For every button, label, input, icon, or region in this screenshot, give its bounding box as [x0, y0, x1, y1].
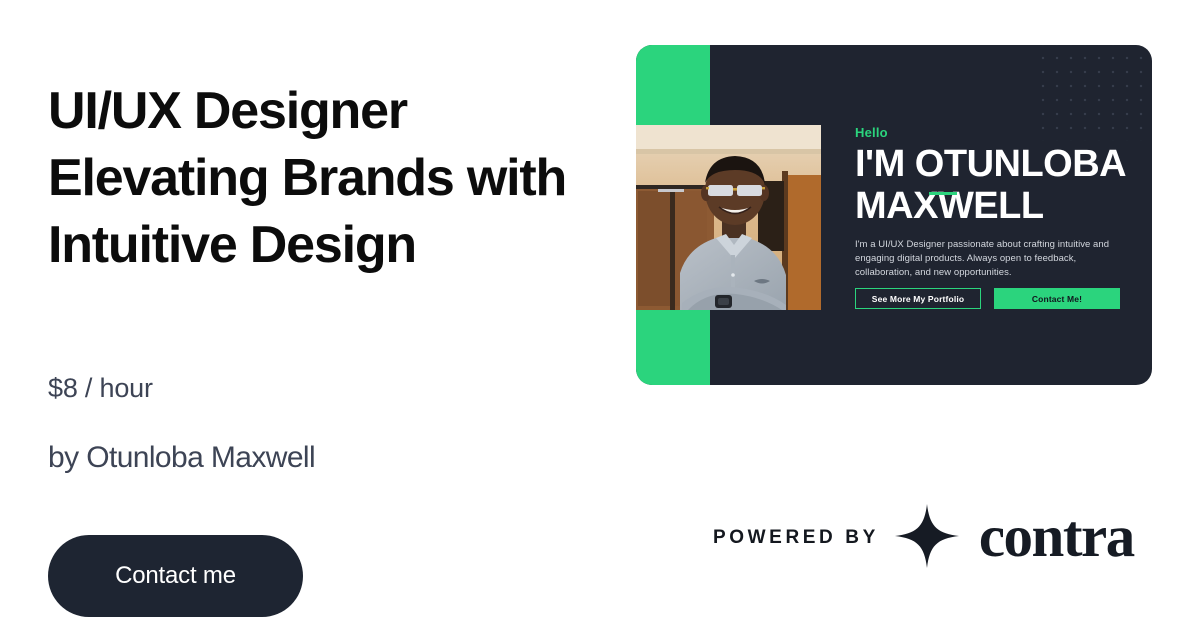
- portrait-illustration: [636, 125, 821, 310]
- contra-wordmark: contra: [979, 507, 1134, 566]
- contra-star-icon: [893, 502, 961, 574]
- card-button-group: See More My Portfolio Contact Me!: [855, 288, 1120, 309]
- card-text-area: Hello I'M OTUNLOBA MAXWELL I'm a UI/UX D…: [855, 45, 1152, 385]
- green-accent-block-bottom: [636, 310, 710, 385]
- card-heading-line2: MAXWELL: [855, 185, 1152, 227]
- powered-by-label: POWERED BY: [713, 527, 879, 549]
- greeting-label: Hello: [855, 125, 888, 140]
- card-contact-me-button[interactable]: Contact Me!: [994, 288, 1120, 309]
- card-description: I'm a UI/UX Designer passionate about cr…: [855, 238, 1123, 280]
- page-title: UI/UX Designer Elevating Brands with Int…: [48, 78, 568, 279]
- author-byline: by Otunloba Maxwell: [48, 437, 315, 479]
- card-heading-line1: I'M OTUNLOBA: [855, 143, 1126, 185]
- portfolio-preview-card[interactable]: Hello I'M OTUNLOBA MAXWELL I'm a UI/UX D…: [636, 45, 1152, 385]
- avatar: [636, 125, 821, 310]
- powered-by-contra: POWERED BY contra: [713, 512, 1134, 564]
- contact-me-button[interactable]: Contact me: [48, 535, 303, 617]
- card-heading: I'M OTUNLOBA MAXWELL: [855, 143, 1152, 227]
- green-underline-accent: [929, 192, 957, 195]
- see-more-portfolio-button[interactable]: See More My Portfolio: [855, 288, 981, 309]
- rate-text: $8 / hour: [48, 370, 153, 406]
- left-content-column: UI/UX Designer Elevating Brands with Int…: [48, 0, 608, 630]
- green-accent-block-top: [636, 45, 710, 125]
